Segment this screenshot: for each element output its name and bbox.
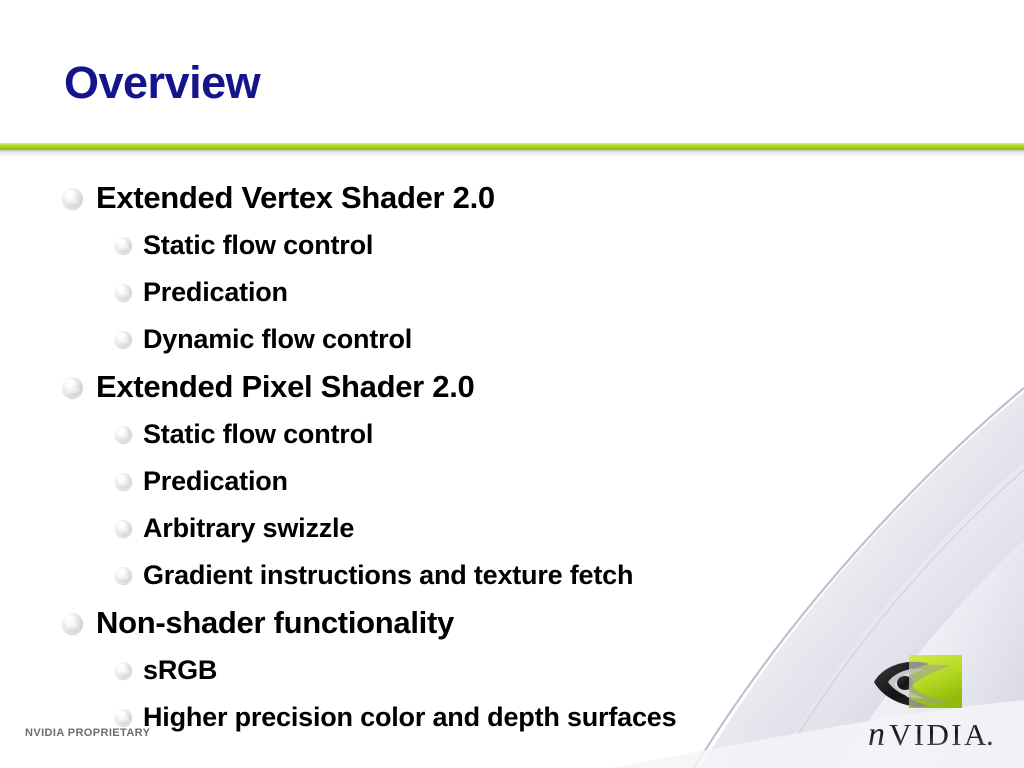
bullet-pearl-icon <box>115 284 132 301</box>
list-item: Non-shader functionality <box>0 601 1024 649</box>
list-item: Gradient instructions and texture fetch <box>0 554 1024 601</box>
bullet-pearl-icon <box>115 520 132 537</box>
slide: Overview Extended Vertex Shader 2.0 Stat… <box>0 0 1024 768</box>
list-item-label: Static flow control <box>143 413 373 455</box>
list-item: Predication <box>0 271 1024 318</box>
list-item-label: Gradient instructions and texture fetch <box>143 554 633 596</box>
list-item-label: sRGB <box>143 649 217 691</box>
bullet-pearl-icon <box>115 426 132 443</box>
list-item-label: Extended Pixel Shader 2.0 <box>96 365 474 409</box>
list-item-label: Predication <box>143 271 288 313</box>
logo-wordmark-n: n <box>868 716 885 753</box>
bullet-pearl-icon <box>115 331 132 348</box>
title-divider-bar <box>0 143 1024 150</box>
logo-wordmark-vidia: VIDIA <box>889 717 989 752</box>
list-item-label: Higher precision color and depth surface… <box>143 696 676 738</box>
list-item-label: Extended Vertex Shader 2.0 <box>96 176 495 220</box>
bullet-pearl-icon <box>115 567 132 584</box>
list-item: Predication <box>0 460 1024 507</box>
bullet-pearl-icon <box>62 377 83 398</box>
bullet-pearl-icon <box>115 473 132 490</box>
bullet-pearl-icon <box>62 613 83 634</box>
title-divider <box>0 143 1024 151</box>
list-item: Static flow control <box>0 224 1024 271</box>
page-title: Overview <box>64 60 260 105</box>
footer-proprietary-notice: NVIDIA PROPRIETARY <box>25 727 150 739</box>
bullet-pearl-icon <box>115 662 132 679</box>
list-item: Static flow control <box>0 413 1024 460</box>
bullet-pearl-icon <box>115 237 132 254</box>
list-item-label: Predication <box>143 460 288 502</box>
nvidia-logo: n VIDIA . <box>862 652 1012 756</box>
title-block: Overview <box>0 60 1024 156</box>
bullet-pearl-icon <box>62 188 83 209</box>
list-item-label: Non-shader functionality <box>96 601 454 645</box>
list-item-label: Arbitrary swizzle <box>143 507 354 549</box>
logo-wordmark-dot: . <box>986 717 994 752</box>
bullet-pearl-icon <box>115 709 132 726</box>
list-item: Extended Pixel Shader 2.0 <box>0 365 1024 413</box>
list-item: Arbitrary swizzle <box>0 507 1024 554</box>
list-item-label: Dynamic flow control <box>143 318 412 360</box>
title-divider-shadow <box>0 150 1024 157</box>
list-item: Dynamic flow control <box>0 318 1024 365</box>
list-item-label: Static flow control <box>143 224 373 266</box>
list-item: Extended Vertex Shader 2.0 <box>0 176 1024 224</box>
